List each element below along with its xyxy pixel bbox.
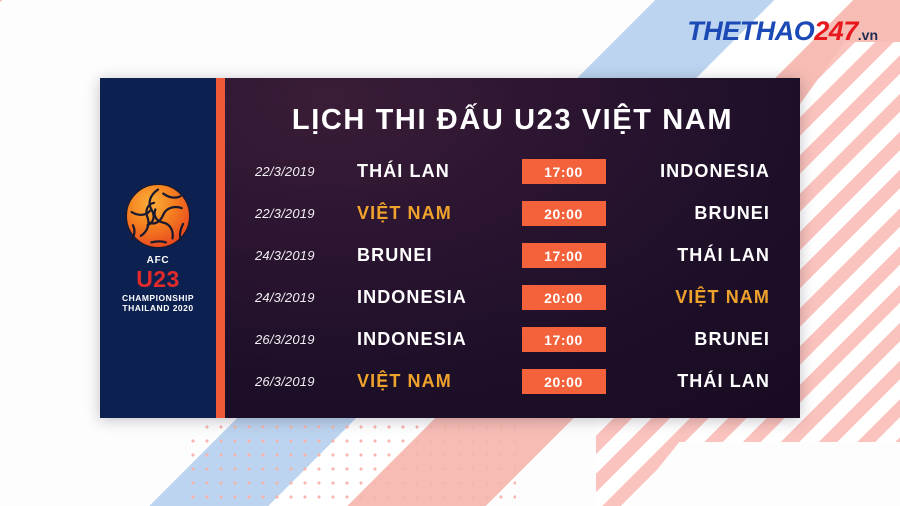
site-logo-brand: THETHAO <box>687 16 814 46</box>
match-away-team: BRUNEI <box>616 329 771 350</box>
match-date: 24/3/2019 <box>255 290 347 305</box>
match-date: 22/3/2019 <box>255 206 347 221</box>
emblem-championship-label: CHAMPIONSHIP <box>122 294 194 303</box>
match-date: 26/3/2019 <box>255 332 347 347</box>
match-time-badge: 17:00 <box>522 159 606 184</box>
match-time-badge: 17:00 <box>522 243 606 268</box>
match-away-team: INDONESIA <box>616 161 771 182</box>
emblem-afc-label: AFC <box>122 256 194 267</box>
poster-canvas: THETHAO247.vn <box>0 0 900 506</box>
emblem-panel: AFC U23 CHAMPIONSHIP THAILAND 2020 <box>100 78 216 418</box>
match-home-team: VIỆT NAM <box>357 203 512 224</box>
match-date: 22/3/2019 <box>255 164 347 179</box>
emblem-text-block: AFC U23 CHAMPIONSHIP THAILAND 2020 <box>122 256 194 314</box>
match-time-badge: 20:00 <box>522 369 606 394</box>
page-title: LỊCH THI ĐẤU U23 VIỆT NAM <box>255 104 770 137</box>
match-home-team: INDONESIA <box>357 287 512 308</box>
accent-divider <box>216 78 225 418</box>
emblem-country-year-label: THAILAND 2020 <box>122 304 194 313</box>
match-home-team: INDONESIA <box>357 329 512 350</box>
match-date: 24/3/2019 <box>255 248 347 263</box>
match-away-team: THÁI LAN <box>616 245 771 266</box>
match-away-team: THÁI LAN <box>616 371 771 392</box>
match-row: 26/3/2019VIỆT NAM20:00THÁI LAN <box>255 363 770 399</box>
site-logo-tld: .vn <box>858 27 878 43</box>
match-row: 22/3/2019VIỆT NAM20:00BRUNEI <box>255 196 770 232</box>
match-home-team: BRUNEI <box>357 245 512 266</box>
schedule-card: AFC U23 CHAMPIONSHIP THAILAND 2020 LỊCH … <box>100 78 800 418</box>
match-date: 26/3/2019 <box>255 374 347 389</box>
match-away-team: BRUNEI <box>616 203 771 224</box>
match-home-team: VIỆT NAM <box>357 371 512 392</box>
site-logo-number: 247 <box>814 16 858 46</box>
afc-u23-emblem: AFC U23 CHAMPIONSHIP THAILAND 2020 <box>122 183 194 314</box>
match-time-badge: 17:00 <box>522 327 606 352</box>
schedule-panel: LỊCH THI ĐẤU U23 VIỆT NAM 22/3/2019THÁI … <box>225 78 800 418</box>
site-logo: THETHAO247.vn <box>687 18 878 45</box>
emblem-u23-label: U23 <box>122 267 194 292</box>
match-time-badge: 20:00 <box>522 201 606 226</box>
match-row: 22/3/2019THÁI LAN17:00INDONESIA <box>255 154 770 190</box>
match-schedule-list: 22/3/2019THÁI LAN17:00INDONESIA22/3/2019… <box>255 151 770 402</box>
match-row: 24/3/2019INDONESIA20:00VIỆT NAM <box>255 279 770 315</box>
match-row: 24/3/2019BRUNEI17:00THÁI LAN <box>255 238 770 274</box>
match-away-team: VIỆT NAM <box>616 287 771 308</box>
match-row: 26/3/2019INDONESIA17:00BRUNEI <box>255 321 770 357</box>
afc-u23-football-logo-icon <box>125 183 191 249</box>
match-time-badge: 20:00 <box>522 285 606 310</box>
match-home-team: THÁI LAN <box>357 161 512 182</box>
dot-grid-pattern <box>186 420 516 506</box>
